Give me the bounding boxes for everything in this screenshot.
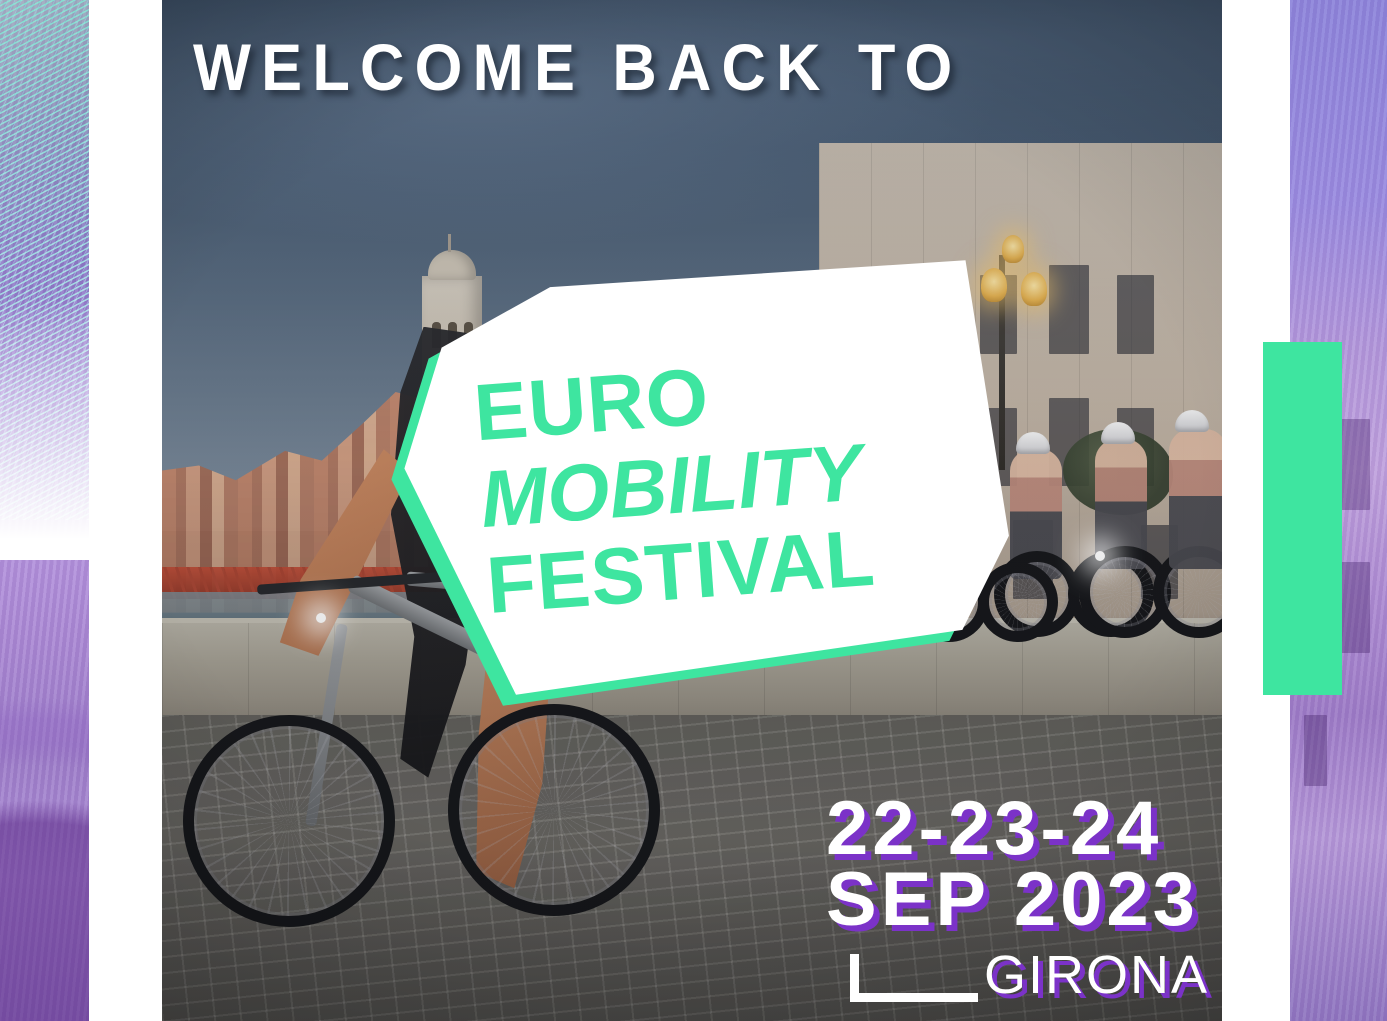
bicycle-front-wheel [183, 715, 395, 927]
poster-canvas: Diari de Girona [0, 0, 1387, 1021]
city-row: GIRONA [826, 950, 1246, 1012]
left-decor-strip [0, 0, 89, 1021]
badge-lockup: EURO MOBILITY FESTIVAL [376, 236, 1027, 728]
background-cyclist [1169, 429, 1222, 569]
green-accent-rectangle [1263, 342, 1342, 695]
bicycle-headlight [316, 613, 326, 623]
bicycle-rear-wheel [448, 704, 660, 916]
event-month-year: SEP 2023 [826, 864, 1246, 935]
event-dates: 22-23-24 [826, 793, 1246, 864]
lamp-globe [1021, 272, 1047, 306]
corner-bracket-icon [850, 954, 978, 1002]
event-city: GIRONA [984, 948, 1209, 1002]
page-title: WELCOME BACK TO [193, 34, 963, 100]
festival-logo-badge: EURO MOBILITY FESTIVAL [392, 258, 1012, 706]
moire-line-pattern [0, 0, 89, 520]
event-date-block: 22-23-24 SEP 2023 GIRONA [826, 793, 1246, 1012]
